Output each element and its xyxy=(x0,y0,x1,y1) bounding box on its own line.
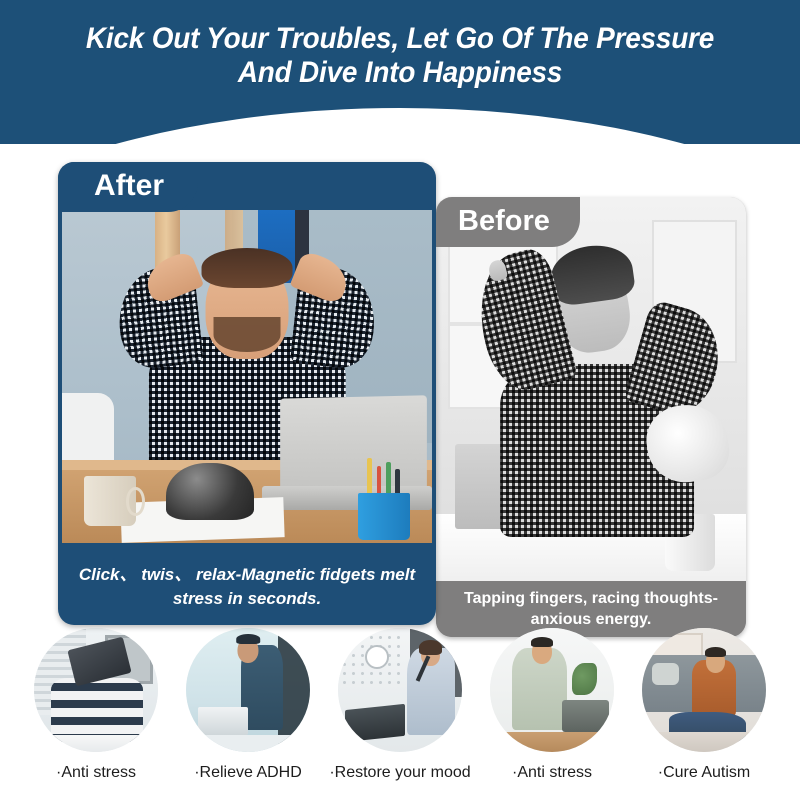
feature-2-laptop-icon xyxy=(198,707,248,734)
feature-item[interactable]: ·Cure Autism xyxy=(634,628,774,782)
page-title-line-1: Kick Out Your Troubles, Let Go Of The Pr… xyxy=(86,22,714,55)
magnetic-balls-icon xyxy=(166,463,255,520)
feature-label: ·Relieve ADHD xyxy=(194,764,302,782)
feature-photo-relieve-adhd xyxy=(186,628,310,752)
feature-photo-anti-stress-2 xyxy=(490,628,614,752)
page-title: Kick Out Your Troubles, Let Go Of The Pr… xyxy=(28,22,772,90)
after-mug-icon xyxy=(84,476,136,526)
feature-label: ·Anti stress xyxy=(56,764,136,782)
feature-item[interactable]: ·Anti stress xyxy=(26,628,166,782)
before-person-figure xyxy=(476,228,718,537)
feature-4-laptop-icon xyxy=(562,700,609,732)
feature-label: ·Anti stress xyxy=(512,764,592,782)
before-photo xyxy=(436,197,746,583)
feature-item[interactable]: ·Anti stress xyxy=(482,628,622,782)
feature-2-hair xyxy=(236,634,260,644)
feature-photo-cure-autism xyxy=(642,628,766,752)
header-banner: Kick Out Your Troubles, Let Go Of The Pr… xyxy=(0,0,800,144)
after-hair xyxy=(202,248,293,287)
feature-item[interactable]: ·Restore your mood xyxy=(330,628,470,782)
before-left-hand xyxy=(487,258,508,282)
feature-3-hair xyxy=(419,640,443,655)
after-pen-cup-icon xyxy=(358,493,410,540)
page-title-line-2: And Dive Into Happiness xyxy=(28,56,772,90)
feature-item[interactable]: ·Relieve ADHD xyxy=(178,628,318,782)
feature-label: ·Restore your mood xyxy=(329,764,470,782)
feature-4-hair xyxy=(531,637,553,647)
feature-label: ·Cure Autism xyxy=(658,764,750,782)
feature-5-floor xyxy=(642,732,766,752)
pillow-icon xyxy=(652,663,679,685)
plant-icon xyxy=(572,663,597,695)
after-photo xyxy=(62,210,432,543)
feature-photo-anti-stress-1 xyxy=(34,628,158,752)
feature-1-desk xyxy=(34,735,158,752)
feature-1-person xyxy=(51,678,143,742)
before-panel: Before Tapping fingers, racing thoughts-… xyxy=(436,197,746,637)
header-arc-decoration xyxy=(0,108,800,144)
feature-4-table xyxy=(490,732,614,752)
feature-strip: ·Anti stress ·Relieve ADHD ·Restore your… xyxy=(0,628,800,800)
feature-5-hair xyxy=(705,647,726,657)
before-right-arm xyxy=(623,299,731,423)
feature-2-table xyxy=(186,735,310,752)
before-label: Before xyxy=(436,197,580,247)
after-caption: Click、 twis、 relax-Magnetic fidgets melt… xyxy=(58,549,436,625)
before-after-comparison: Before Tapping fingers, racing thoughts-… xyxy=(0,144,800,620)
after-panel: After Click、 twis、 relax-Magnetic fidget… xyxy=(58,162,436,625)
feature-photo-restore-mood xyxy=(338,628,462,752)
after-label: After xyxy=(58,162,198,212)
